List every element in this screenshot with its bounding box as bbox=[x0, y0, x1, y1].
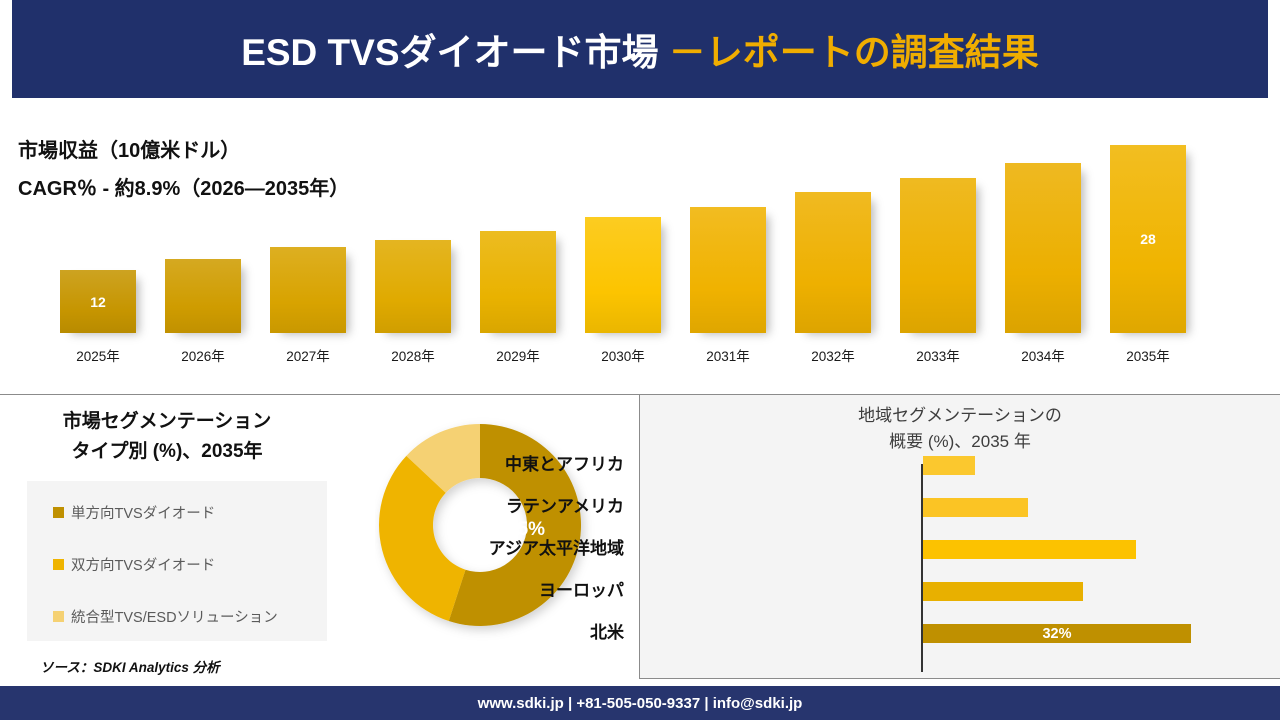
page-title-main: ESD TVSダイオード市場 bbox=[241, 32, 669, 73]
region-bar-value-label: 32% bbox=[923, 626, 1191, 642]
bar-category-label: 2029年 bbox=[466, 345, 570, 365]
page-title-accent: －レポートの調査結果 bbox=[669, 32, 1039, 73]
bar bbox=[690, 207, 766, 333]
region-bar bbox=[923, 582, 1083, 601]
bar-category-label: 2028年 bbox=[361, 345, 465, 365]
region-row: ヨーロッパ bbox=[640, 574, 1280, 608]
bar bbox=[270, 247, 346, 333]
bar-column: 2033年 bbox=[886, 98, 990, 394]
region-row: アジア太平洋地域 bbox=[640, 532, 1280, 566]
legend-item-label: 単方向TVSダイオード bbox=[71, 502, 215, 523]
region-row: 中東とアフリカ bbox=[640, 448, 1280, 482]
legend-item-label: 双方向TVSダイオード bbox=[71, 554, 215, 575]
bar bbox=[375, 240, 451, 333]
bar bbox=[480, 231, 556, 333]
right-panel-bottom-divider bbox=[639, 678, 1280, 679]
segmentation-title-line1: 市場セグメンテーション bbox=[22, 407, 312, 437]
segmentation-legend: 単方向TVSダイオード双方向TVSダイオード統合型TVS/ESDソリューション bbox=[27, 481, 327, 641]
region-category-label: 中東とアフリカ bbox=[304, 448, 624, 482]
legend-swatch-icon bbox=[53, 507, 64, 518]
segmentation-title-line2: タイプ別 (%)、2035年 bbox=[22, 437, 312, 467]
bar-category-label: 2025年 bbox=[46, 345, 150, 365]
bar: 12 bbox=[60, 270, 136, 333]
revenue-bar-chart-panel: 市場収益（10億米ドル） CAGR％ - 約8.9%（2026―2035年） 1… bbox=[0, 98, 1280, 394]
bar-category-label: 2033年 bbox=[886, 345, 990, 365]
region-category-label: 北米 bbox=[304, 616, 624, 650]
bar bbox=[795, 192, 871, 333]
region-bar bbox=[923, 540, 1136, 559]
legend-item: 単方向TVSダイオード bbox=[53, 501, 215, 523]
bar bbox=[900, 178, 976, 333]
region-category-label: アジア太平洋地域 bbox=[304, 532, 624, 566]
legend-swatch-icon bbox=[53, 611, 64, 622]
region-bar bbox=[923, 456, 975, 475]
region-panel: 地域セグメンテーションの 概要 (%)、2035 年 中東とアフリカラテンアメリ… bbox=[640, 395, 1280, 678]
bar bbox=[165, 259, 241, 333]
page-header: ESD TVSダイオード市場 －レポートの調査結果 bbox=[12, 0, 1268, 98]
page-footer: www.sdki.jp | +81-505-050-9337 | info@sd… bbox=[0, 686, 1280, 720]
bar-value-label: 12 bbox=[60, 294, 136, 310]
infographic-page: ESD TVSダイオード市場 －レポートの調査結果 市場収益（10億米ドル） C… bbox=[0, 0, 1280, 720]
bar-column: 2034年 bbox=[991, 98, 1095, 394]
bar bbox=[585, 217, 661, 333]
source-note: ソース：SDKI Analytics 分析 bbox=[40, 656, 220, 676]
bar-column: 2028年 bbox=[361, 98, 465, 394]
segmentation-title: 市場セグメンテーション タイプ別 (%)、2035年 bbox=[22, 407, 312, 467]
bar-column: 2026年 bbox=[151, 98, 255, 394]
bar-value-label: 28 bbox=[1110, 231, 1186, 247]
region-bar bbox=[923, 498, 1028, 517]
bar: 28 bbox=[1110, 145, 1186, 333]
bar-column: 2029年 bbox=[466, 98, 570, 394]
bar-category-label: 2027年 bbox=[256, 345, 360, 365]
bar-column: 282035年 bbox=[1096, 98, 1200, 394]
bar-category-label: 2030年 bbox=[571, 345, 675, 365]
page-title: ESD TVSダイオード市場 －レポートの調査結果 bbox=[241, 22, 1039, 76]
bar-category-label: 2031年 bbox=[676, 345, 780, 365]
revenue-bar-chart: 122025年2026年2027年2028年2029年2030年2031年203… bbox=[0, 98, 1280, 394]
bar-column: 2030年 bbox=[571, 98, 675, 394]
bar-column: 2032年 bbox=[781, 98, 885, 394]
bar-category-label: 2034年 bbox=[991, 345, 1095, 365]
legend-item-label: 統合型TVS/ESDソリューション bbox=[71, 606, 278, 627]
region-row: ラテンアメリカ bbox=[640, 490, 1280, 524]
region-category-label: ヨーロッパ bbox=[304, 574, 624, 608]
region-title-line1: 地域セグメンテーションの bbox=[640, 403, 1280, 429]
region-category-label: ラテンアメリカ bbox=[304, 490, 624, 524]
bar-column: 2031年 bbox=[676, 98, 780, 394]
bar-category-label: 2032年 bbox=[781, 345, 885, 365]
bar-column: 2027年 bbox=[256, 98, 360, 394]
region-bar: 32% bbox=[923, 624, 1191, 643]
bar bbox=[1005, 163, 1081, 333]
footer-contact: www.sdki.jp | +81-505-050-9337 | info@sd… bbox=[478, 695, 803, 712]
legend-item: 統合型TVS/ESDソリューション bbox=[53, 605, 278, 627]
bar-category-label: 2035年 bbox=[1096, 345, 1200, 365]
legend-swatch-icon bbox=[53, 559, 64, 570]
bar-column: 122025年 bbox=[46, 98, 150, 394]
bar-category-label: 2026年 bbox=[151, 345, 255, 365]
region-row: 北米32% bbox=[640, 616, 1280, 650]
legend-item: 双方向TVSダイオード bbox=[53, 553, 215, 575]
